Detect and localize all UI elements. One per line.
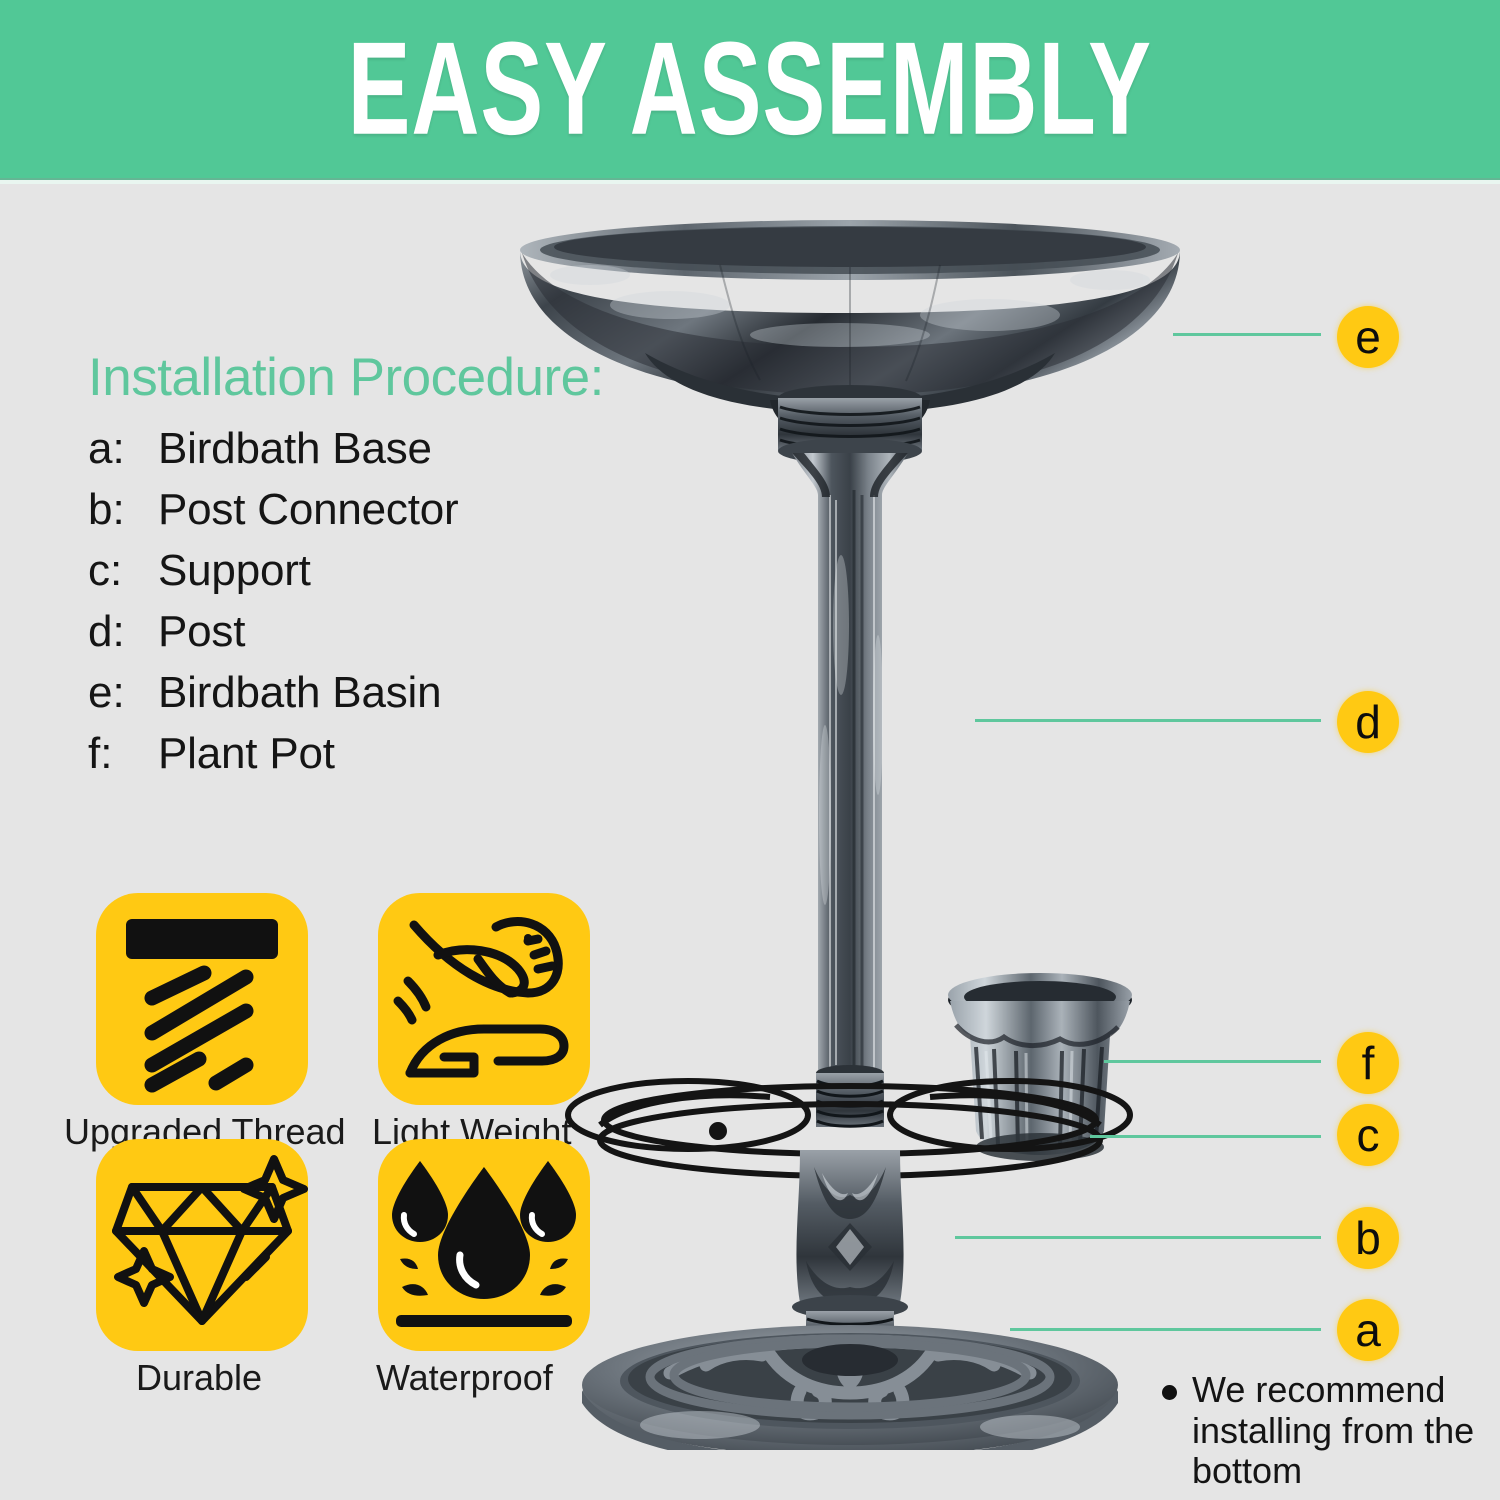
leader-line-a — [1010, 1328, 1321, 1331]
birdbath-base-part — [582, 1325, 1118, 1450]
leader-line-f — [1104, 1060, 1321, 1063]
recommendation-note: We recommend installing from the bottom — [1192, 1370, 1492, 1492]
feature-durable: Durable — [96, 1139, 378, 1385]
diamond-sparkle-icon — [96, 1139, 308, 1351]
callout-badge-b[interactable]: b — [1337, 1207, 1399, 1269]
feature-tile — [96, 893, 308, 1105]
leader-line-c — [1090, 1135, 1321, 1138]
feature-tile — [96, 1139, 308, 1351]
feature-label: Durable — [136, 1357, 376, 1399]
list-item-label: Birdbath Base — [158, 424, 432, 474]
callout-badge-c[interactable]: c — [1337, 1104, 1399, 1166]
birdbath-assembly-image — [470, 195, 1230, 1450]
screw-thread-icon — [96, 893, 308, 1105]
product-illustration — [470, 195, 1230, 1450]
list-item-label: Birdbath Basin — [158, 668, 441, 718]
list-item-key: d: — [88, 607, 158, 657]
leader-line-e — [1173, 333, 1321, 336]
list-item-key: b: — [88, 485, 158, 535]
feature-upgraded-thread: Upgraded Thread — [96, 893, 378, 1139]
page-title: EASY ASSEMBLY — [348, 23, 1152, 155]
note-bullet-icon — [1162, 1385, 1177, 1400]
list-item-label: Support — [158, 546, 311, 596]
list-item-key: c: — [88, 546, 158, 596]
post-part — [792, 453, 908, 1075]
header-divider — [0, 178, 1500, 184]
infographic-page: EASY ASSEMBLY Installation Procedure: a:… — [0, 0, 1500, 1500]
callout-badge-e[interactable]: e — [1337, 306, 1399, 368]
lower-thread-collar — [816, 1065, 884, 1127]
list-item-key: e: — [88, 668, 158, 718]
leader-line-d — [975, 719, 1321, 722]
list-item-label: Post — [158, 607, 245, 657]
callout-badge-f[interactable]: f — [1337, 1032, 1399, 1094]
callout-badge-a[interactable]: a — [1337, 1299, 1399, 1361]
list-item-label: Plant Pot — [158, 729, 335, 779]
plant-pot-part — [948, 973, 1132, 1161]
leader-line-b — [955, 1236, 1321, 1239]
list-item-label: Post Connector — [158, 485, 458, 535]
upper-thread-collar — [778, 385, 922, 464]
callout-badge-d[interactable]: d — [1337, 691, 1399, 753]
list-item-key: f: — [88, 729, 158, 779]
header-banner: EASY ASSEMBLY — [0, 0, 1500, 178]
list-item-key: a: — [88, 424, 158, 474]
